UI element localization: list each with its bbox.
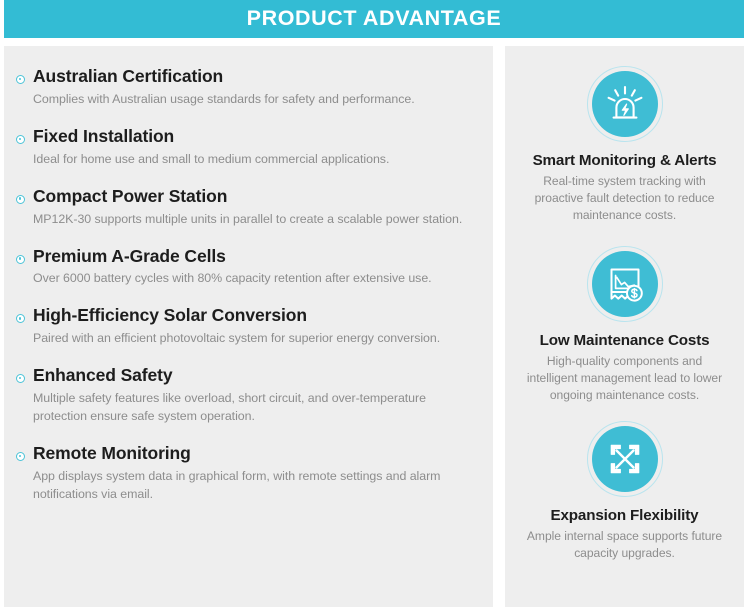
- alarm-beacon-icon: [592, 71, 658, 137]
- feature-card: Smart Monitoring & Alerts Real-time syst…: [505, 66, 744, 225]
- advantage-item: Compact Power Station MP12K-30 supports …: [14, 186, 475, 229]
- advantage-description: App displays system data in graphical fo…: [33, 468, 475, 504]
- cost-chart-dollar-icon: [592, 251, 658, 317]
- advantage-title: Fixed Installation: [33, 126, 475, 148]
- advantage-title: Remote Monitoring: [33, 443, 475, 465]
- feature-description: High-quality components and intelligent …: [522, 353, 727, 405]
- features-panel: Smart Monitoring & Alerts Real-time syst…: [505, 46, 744, 607]
- feature-icon-wrap: [587, 421, 663, 497]
- header-bar: PRODUCT ADVANTAGE: [4, 0, 744, 38]
- content-area: Australian Certification Complies with A…: [0, 46, 744, 607]
- expand-arrows-icon: [592, 426, 658, 492]
- advantage-title: Premium A-Grade Cells: [33, 246, 475, 268]
- bullet-icon: [16, 255, 25, 264]
- feature-icon-wrap: [587, 66, 663, 142]
- advantage-description: Ideal for home use and small to medium c…: [33, 151, 475, 169]
- advantage-description: Complies with Australian usage standards…: [33, 91, 475, 109]
- bullet-icon: [16, 195, 25, 204]
- advantage-description: MP12K-30 supports multiple units in para…: [33, 211, 475, 229]
- bullet-icon: [16, 135, 25, 144]
- product-advantage-page: PRODUCT ADVANTAGE Australian Certificati…: [0, 0, 744, 607]
- advantage-item: Enhanced Safety Multiple safety features…: [14, 365, 475, 426]
- advantage-item: Remote Monitoring App displays system da…: [14, 443, 475, 504]
- advantage-title: Australian Certification: [33, 66, 475, 88]
- feature-title: Expansion Flexibility: [505, 506, 744, 525]
- feature-description: Ample internal space supports future cap…: [522, 528, 727, 562]
- feature-title: Smart Monitoring & Alerts: [505, 151, 744, 170]
- advantages-list-panel: Australian Certification Complies with A…: [4, 46, 493, 607]
- advantage-item: Premium A-Grade Cells Over 6000 battery …: [14, 246, 475, 289]
- advantage-description: Paired with an efficient photovoltaic sy…: [33, 330, 475, 348]
- advantage-title: Enhanced Safety: [33, 365, 475, 387]
- feature-description: Real-time system tracking with proactive…: [522, 173, 727, 225]
- feature-icon-wrap: [587, 246, 663, 322]
- feature-card: Low Maintenance Costs High-quality compo…: [505, 246, 744, 405]
- advantage-item: High-Efficiency Solar Conversion Paired …: [14, 305, 475, 348]
- advantage-description: Multiple safety features like overload, …: [33, 390, 475, 426]
- page-title: PRODUCT ADVANTAGE: [247, 8, 502, 30]
- bullet-icon: [16, 314, 25, 323]
- advantage-item: Australian Certification Complies with A…: [14, 66, 475, 109]
- feature-title: Low Maintenance Costs: [505, 331, 744, 350]
- advantage-description: Over 6000 battery cycles with 80% capaci…: [33, 270, 475, 288]
- advantage-item: Fixed Installation Ideal for home use an…: [14, 126, 475, 169]
- bullet-icon: [16, 75, 25, 84]
- bullet-icon: [16, 452, 25, 461]
- bullet-icon: [16, 374, 25, 383]
- feature-card: Expansion Flexibility Ample internal spa…: [505, 421, 744, 562]
- advantage-title: High-Efficiency Solar Conversion: [33, 305, 475, 327]
- advantage-title: Compact Power Station: [33, 186, 475, 208]
